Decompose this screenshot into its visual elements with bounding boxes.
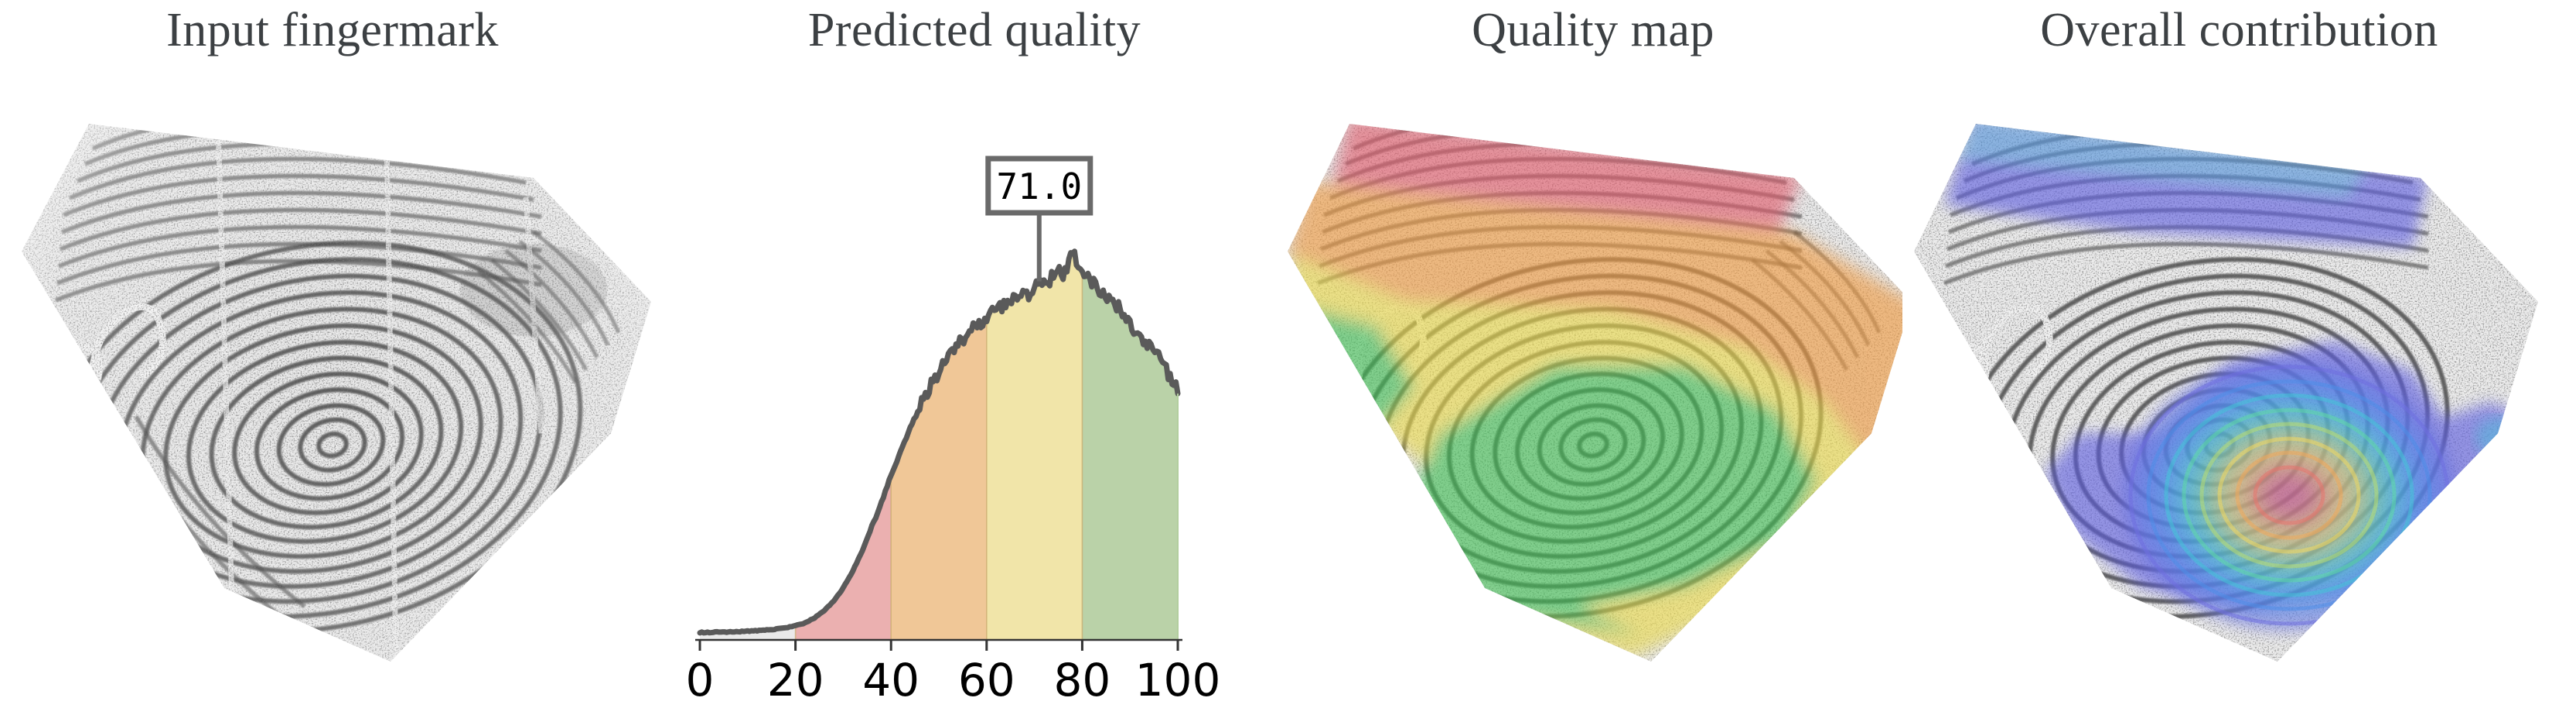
quality-band-medium <box>891 178 987 640</box>
panel-quality-map: Quality map <box>1284 0 1902 708</box>
value-callout-label: 71.0 <box>996 166 1082 207</box>
contribution-heatmap-core <box>2123 360 2455 631</box>
x-axis-group: 020406080100 <box>686 640 1221 706</box>
overall-contribution-image <box>1902 0 2576 708</box>
panel-overall-contribution: Overall contribution <box>1902 0 2576 708</box>
quality-band-very-low <box>700 178 796 640</box>
panel-input-fingermark: Input fingermark <box>0 0 665 708</box>
predicted-quality-chart: 020406080100 71.0 <box>665 0 1284 708</box>
quality-band-fills <box>700 178 1178 640</box>
quality-band-very-good <box>1082 178 1178 640</box>
x-tick-label-40: 40 <box>862 654 920 706</box>
panel-predicted-quality: Predicted quality 020406080100 71.0 <box>665 0 1284 708</box>
x-tick-label-0: 0 <box>686 654 715 706</box>
quality-bands-group <box>700 178 1178 640</box>
figure-root: Input fingermark <box>0 0 2576 708</box>
x-tick-label-80: 80 <box>1053 654 1111 706</box>
x-tick-label-20: 20 <box>767 654 824 706</box>
quality-band-good <box>987 178 1083 640</box>
x-tick-label-100: 100 <box>1135 654 1221 706</box>
quality-band-low <box>796 178 892 640</box>
quality-map-image <box>1284 0 1902 708</box>
input-fingermark-image <box>0 0 665 708</box>
x-tick-label-60: 60 <box>958 654 1015 706</box>
